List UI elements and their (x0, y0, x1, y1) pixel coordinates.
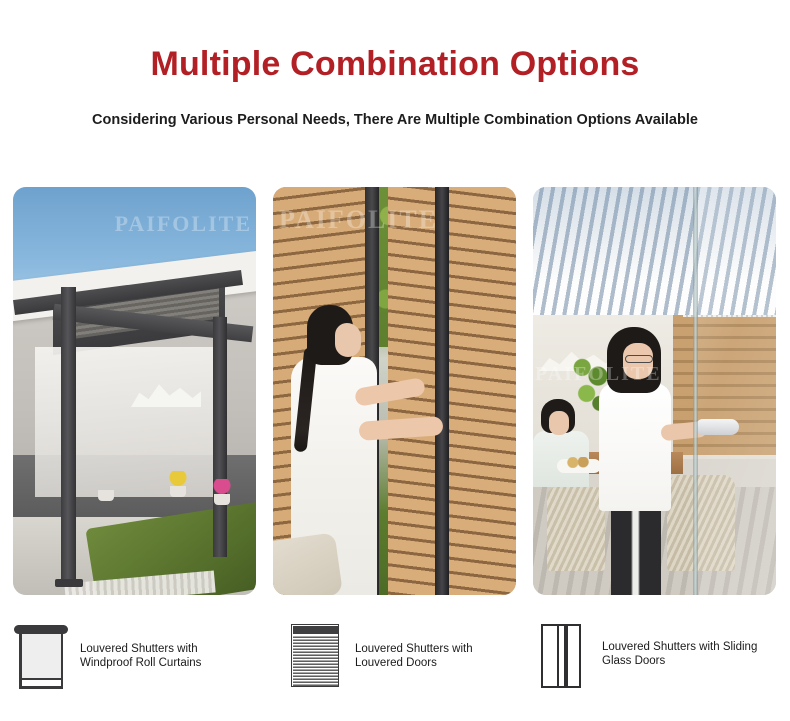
glass-reflection (698, 187, 776, 595)
legend-item-louvered-doors[interactable]: Louvered Shutters with Louvered Doors (275, 618, 525, 713)
glass-door-mullion (693, 187, 698, 595)
frame-base (19, 686, 63, 689)
legend-label: Louvered Shutters with Louvered Doors (355, 618, 473, 670)
legend-label: Louvered Shutters with Sliding Glass Doo… (602, 618, 757, 668)
frame-leg-right (61, 632, 64, 689)
flower-pot (98, 490, 114, 501)
pergola-post-right (213, 317, 227, 557)
post-base-plate (55, 579, 83, 587)
standing-person-shirt (599, 383, 671, 511)
louvered-doors-photo: PAIFOLITE (273, 187, 516, 595)
roll-curtain-icon (11, 618, 71, 692)
rattan-chair-left (547, 487, 605, 571)
sliding-glass-door-icon (533, 618, 593, 692)
eyeglasses (625, 355, 653, 363)
seated-person-face (549, 411, 569, 435)
frame-leg-left (19, 632, 22, 689)
food-items (565, 457, 591, 468)
pergola-with-roll-curtain-photo: PAIFOLITE (13, 187, 256, 595)
legend-item-sliding-glass-doors[interactable]: Louvered Shutters with Sliding Glass Doo… (525, 618, 790, 713)
potted-plant (93, 475, 119, 501)
gallery-card-louvered-doors[interactable]: PAIFOLITE (273, 187, 516, 595)
door-stile-right (435, 187, 449, 595)
woman-face (335, 323, 361, 357)
page-title: Multiple Combination Options (0, 44, 790, 84)
gallery-card-sliding-glass-doors[interactable]: PAIFOLITE (533, 187, 776, 595)
page-subtitle: Considering Various Personal Needs, Ther… (0, 110, 790, 130)
pergola-post-left (61, 287, 76, 582)
yellow-flowers (165, 471, 191, 497)
sliding-glass-doors-photo: PAIFOLITE (533, 187, 776, 595)
panel-divider-first (557, 626, 559, 686)
panel-divider-second (564, 626, 568, 686)
product-feature-page: Multiple Combination Options Considering… (0, 0, 790, 721)
sofa-cushion (273, 532, 343, 595)
pink-flowers (209, 479, 235, 505)
screen-panel (19, 632, 63, 680)
header-bar (293, 626, 338, 634)
legend-label: Louvered Shutters with Windproof Roll Cu… (80, 618, 201, 670)
flower-pot (170, 486, 186, 497)
gallery-row: PAIFOLITE PAIFOLITE (13, 187, 777, 595)
legend-row: Louvered Shutters with Windproof Roll Cu… (0, 618, 790, 713)
louver-slats (293, 635, 338, 686)
gallery-card-roll-curtain[interactable]: PAIFOLITE (13, 187, 256, 595)
louvered-door-icon (286, 618, 346, 692)
legend-item-roll-curtain[interactable]: Louvered Shutters with Windproof Roll Cu… (0, 618, 275, 713)
flower-pot (214, 494, 230, 505)
standing-person-legs (611, 505, 661, 595)
heading-block: Multiple Combination Options Considering… (0, 0, 790, 130)
door-frame (541, 624, 581, 688)
